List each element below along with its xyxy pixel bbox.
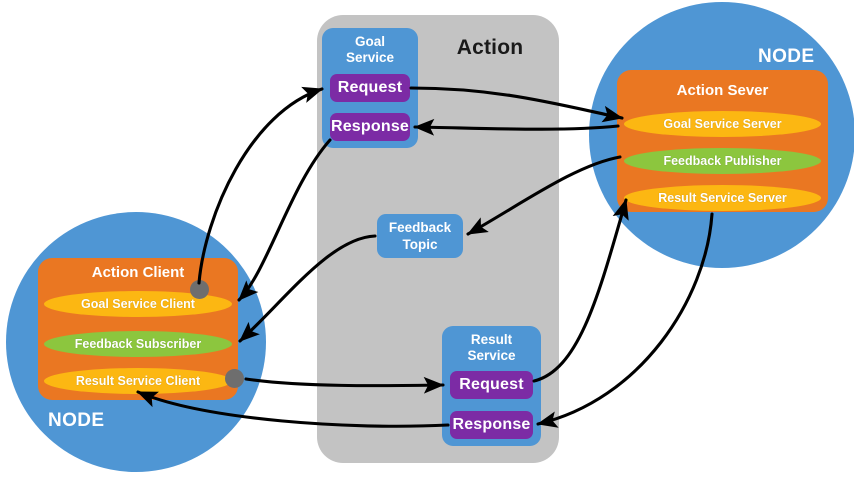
pill-feedback-subscriber-label: Feedback Subscriber (75, 337, 201, 351)
feedback-topic-card[interactable]: Feedback Topic (377, 214, 463, 258)
pill-feedback-subscriber[interactable]: Feedback Subscriber (44, 331, 232, 357)
connector-dot-client-result (225, 369, 244, 388)
action-client-title: Action Client (38, 264, 238, 281)
pill-result-service-server-label: Result Service Server (658, 191, 787, 205)
goal-service-response[interactable]: Response (330, 113, 410, 141)
feedback-topic-line2: Topic (389, 236, 451, 253)
feedback-topic-line1: Feedback (389, 219, 451, 236)
pill-feedback-publisher[interactable]: Feedback Publisher (624, 148, 821, 174)
pill-result-service-client-label: Result Service Client (76, 374, 200, 388)
client-node-label: NODE (48, 410, 105, 432)
goal-service-request[interactable]: Request (330, 74, 410, 102)
pill-result-service-server[interactable]: Result Service Server (624, 185, 821, 211)
result-service-response[interactable]: Response (450, 411, 533, 439)
pill-goal-service-client-label: Goal Service Client (81, 297, 195, 311)
pill-goal-service-server[interactable]: Goal Service Server (624, 111, 821, 137)
server-node-label: NODE (758, 46, 815, 68)
result-service-title-line1: Result (442, 332, 541, 348)
pill-feedback-publisher-label: Feedback Publisher (663, 154, 781, 168)
action-server-title: Action Sever (617, 82, 828, 99)
result-service-title-line2: Service (442, 348, 541, 364)
action-panel-title: Action (430, 36, 550, 60)
diagram-canvas: Action NODE Action Client Goal Service C… (0, 0, 854, 480)
pill-result-service-client[interactable]: Result Service Client (44, 368, 232, 394)
pill-goal-service-server-label: Goal Service Server (663, 117, 781, 131)
goal-service-title-line1: Goal (322, 34, 418, 50)
result-service-request[interactable]: Request (450, 371, 533, 399)
connector-dot-client-goal (190, 280, 209, 299)
goal-service-title-line2: Service (322, 50, 418, 66)
